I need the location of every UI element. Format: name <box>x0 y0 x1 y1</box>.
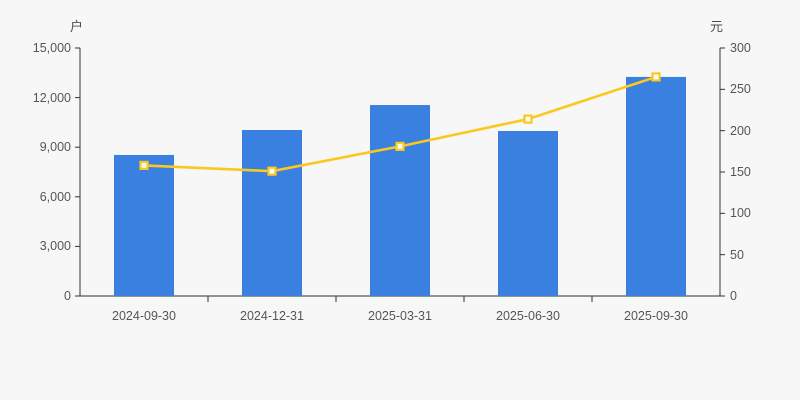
right-axis-tick-label: 50 <box>730 248 744 261</box>
line-marker[interactable] <box>141 162 148 169</box>
right-axis-tick-label: 150 <box>730 166 751 179</box>
bar[interactable] <box>242 130 302 296</box>
line-marker[interactable] <box>653 73 660 80</box>
bar[interactable] <box>626 77 686 296</box>
right-axis-tick-label: 200 <box>730 124 751 137</box>
x-axis-category-label: 2025-03-31 <box>368 310 432 323</box>
x-axis-category-label: 2025-09-30 <box>624 310 688 323</box>
left-axis-tick-label: 12,000 <box>33 91 71 104</box>
bar[interactable] <box>370 105 430 296</box>
right-axis-tick-label: 100 <box>730 207 751 220</box>
line-marker[interactable] <box>525 116 532 123</box>
line-marker[interactable] <box>269 168 276 175</box>
left-axis-tick-label: 15,000 <box>33 42 71 55</box>
plot-area <box>0 0 800 400</box>
left-axis-tick-label: 0 <box>64 290 71 303</box>
left-axis-tick-label: 6,000 <box>40 191 71 204</box>
bar[interactable] <box>498 131 558 296</box>
x-axis-category-label: 2024-09-30 <box>112 310 176 323</box>
x-axis-category-label: 2025-06-30 <box>496 310 560 323</box>
line-marker[interactable] <box>397 143 404 150</box>
right-axis-tick-label: 250 <box>730 83 751 96</box>
right-axis-tick-label: 300 <box>730 42 751 55</box>
bar[interactable] <box>114 155 174 296</box>
left-axis-tick-label: 9,000 <box>40 141 71 154</box>
right-axis-tick-label: 0 <box>730 290 737 303</box>
chart-container: 户 元 03,0006,0009,00012,00015,00005010015… <box>0 0 800 400</box>
left-axis-tick-label: 3,000 <box>40 240 71 253</box>
x-axis-category-label: 2024-12-31 <box>240 310 304 323</box>
